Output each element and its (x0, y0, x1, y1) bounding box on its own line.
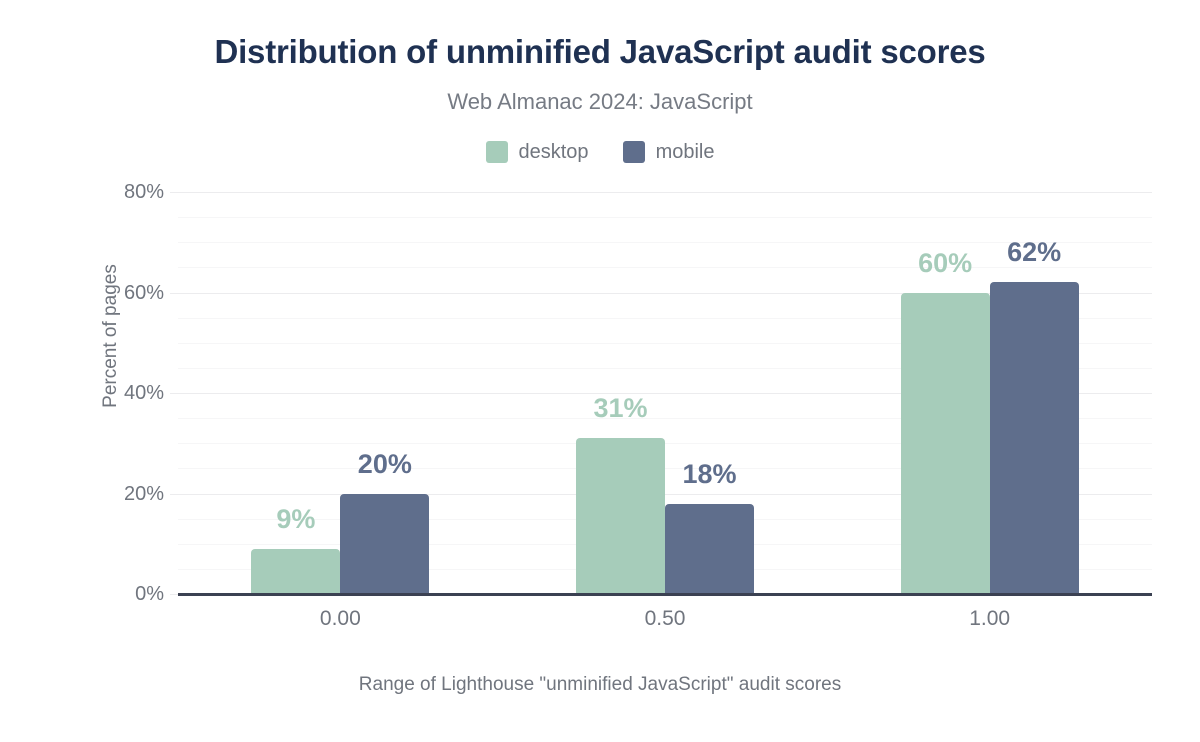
legend-label-mobile: mobile (656, 140, 715, 164)
bar-value-label-mobile-1.00: 62% (964, 236, 1104, 268)
y-axis-tick-label: 80% (124, 182, 164, 202)
chart-title: Distribution of unminified JavaScript au… (0, 30, 1200, 74)
y-axis-tick-mark (170, 594, 178, 595)
x-axis-tick-label: 1.00 (910, 606, 1070, 632)
legend-item-desktop[interactable]: desktop (486, 140, 589, 164)
x-axis-line (178, 593, 1152, 596)
y-axis-tick-label: 40% (124, 383, 164, 403)
x-axis-tick-label: 0.00 (260, 606, 420, 632)
chart-subtitle: Web Almanac 2024: JavaScript (0, 87, 1200, 117)
legend-swatch-desktop-icon (486, 141, 508, 163)
plot-area: 9%20%31%18%60%62% (178, 192, 1152, 594)
y-axis-title: Percent of pages (100, 216, 122, 456)
bar-mobile-0.00[interactable] (340, 494, 429, 595)
bar-value-label-mobile-0.50: 18% (640, 458, 780, 490)
legend-label-desktop: desktop (519, 140, 589, 164)
bar-mobile-1.00[interactable] (990, 282, 1079, 594)
bar-desktop-0.00[interactable] (251, 549, 340, 594)
bar-value-label-desktop-0.50: 31% (551, 392, 691, 424)
bar-desktop-1.00[interactable] (901, 293, 990, 595)
gridline (178, 192, 1152, 193)
bar-value-label-mobile-0.00: 20% (315, 448, 455, 480)
y-axis-tick-mark (170, 494, 178, 495)
gridline (178, 217, 1152, 218)
y-axis-tick-mark (170, 293, 178, 294)
x-axis-title: Range of Lighthouse "unminified JavaScri… (0, 672, 1200, 698)
legend-item-mobile[interactable]: mobile (623, 140, 715, 164)
y-axis-tick-label: 20% (124, 484, 164, 504)
legend-swatch-mobile-icon (623, 141, 645, 163)
chart-figure: Distribution of unminified JavaScript au… (0, 0, 1200, 742)
chart-legend: desktop mobile (0, 140, 1200, 164)
x-axis-tick-label: 0.50 (585, 606, 745, 632)
bar-mobile-0.50[interactable] (665, 504, 754, 594)
y-axis-tick-label: 0% (135, 584, 164, 604)
y-axis-tick-mark (170, 192, 178, 193)
y-axis-tick-mark (170, 393, 178, 394)
y-axis-tick-label: 60% (124, 283, 164, 303)
